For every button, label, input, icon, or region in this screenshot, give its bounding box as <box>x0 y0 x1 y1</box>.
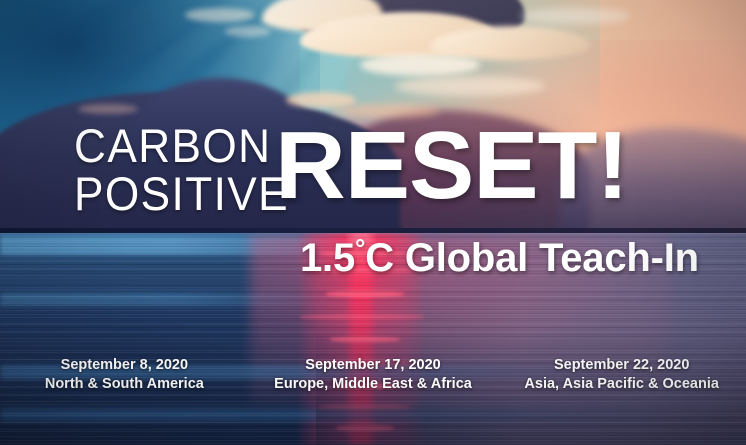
event-date: September 22, 2020 <box>497 356 746 375</box>
event-date: September 8, 2020 <box>0 356 249 375</box>
headline-carbon: CARBON <box>74 122 271 169</box>
event-region: Europe, Middle East & Africa <box>249 375 498 394</box>
event-region: Asia, Asia Pacific & Oceania <box>497 375 746 394</box>
cloud-wisp <box>395 76 545 96</box>
tagline-value: 1.5 <box>300 236 355 280</box>
event-region: North & South America <box>0 375 249 394</box>
tagline-suffix: C Global Teach-In <box>365 236 699 280</box>
cloud-wisp <box>225 26 271 37</box>
tagline: 1.5°C Global Teach-In <box>300 235 699 278</box>
event-column-emea: September 17, 2020 Europe, Middle East &… <box>249 356 498 394</box>
event-date: September 17, 2020 <box>249 356 498 375</box>
headline-positive: POSITIVE <box>74 170 289 217</box>
headline-reset: RESET! <box>275 118 628 214</box>
event-schedule: September 8, 2020 North & South America … <box>0 356 746 394</box>
event-column-apac: September 22, 2020 Asia, Asia Pacific & … <box>497 356 746 394</box>
event-column-americas: September 8, 2020 North & South America <box>0 356 249 394</box>
cloud-wisp <box>185 8 255 22</box>
cloud-wisp <box>520 8 630 24</box>
cloud-wisp <box>360 54 480 76</box>
cloud-rim-light <box>78 104 138 114</box>
teach-in-poster: CARBON POSITIVE RESET! 1.5°C Global Teac… <box>0 0 746 445</box>
degree-symbol-icon: ° <box>355 233 365 263</box>
